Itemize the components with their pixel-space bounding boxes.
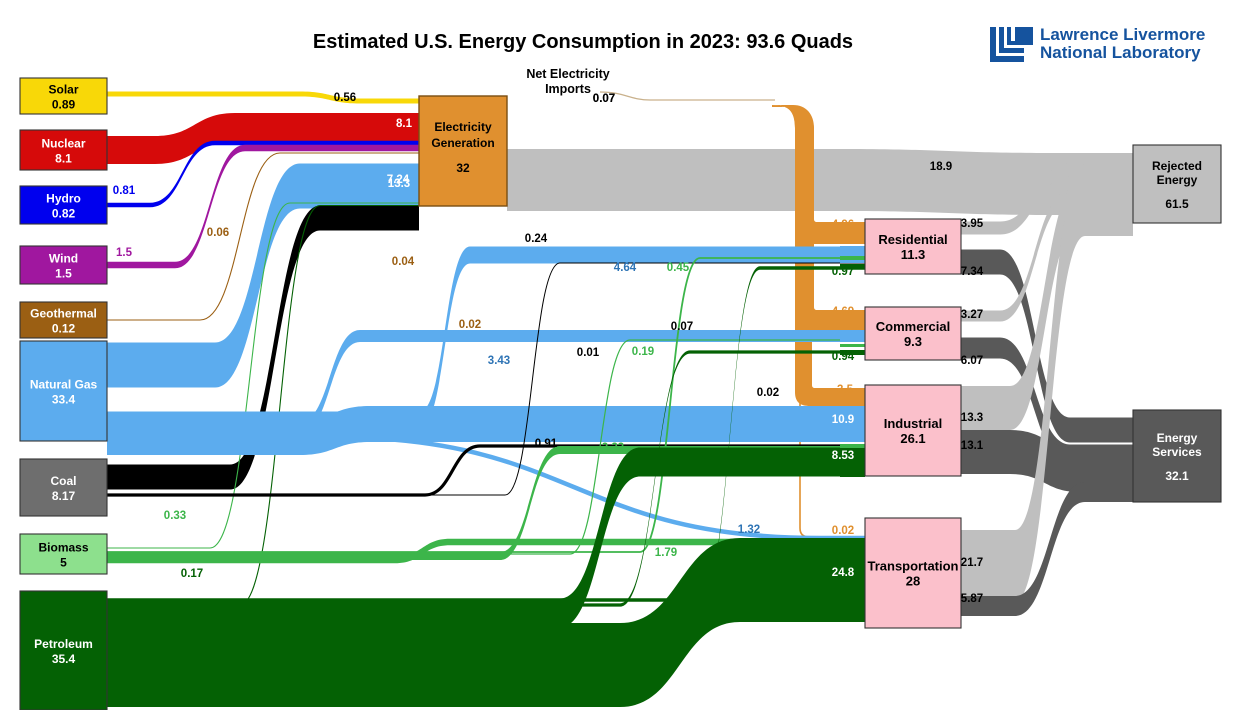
sector-industrial-label: Industrial [884, 416, 943, 431]
flow-label-wind-elecgen: 1.5 [116, 247, 133, 259]
hub-elecgen-label: Generation [431, 136, 494, 150]
source-nuclear-label: 8.1 [55, 152, 72, 166]
sink-services-label: Services [1152, 445, 1202, 459]
net-imports-label-line1: Net Electricity [526, 67, 609, 81]
source-petroleum-label: 35.4 [52, 652, 76, 666]
flow-label-geothermal-residential: 0.04 [392, 256, 415, 268]
flow-label-residential-rejected: 3.95 [961, 218, 984, 230]
source-natgas-label: Natural Gas [30, 378, 98, 392]
flow-label-elecgen-commercial: 4.69 [832, 306, 854, 318]
flow-biomass-residential [107, 258, 865, 552]
source-biomass-label: 5 [60, 556, 67, 570]
flow-label-petroleum-industrial: 8.53 [832, 450, 854, 462]
source-petroleum-label: Petroleum [34, 637, 93, 651]
flow-label-biomass-elecgen: 0.33 [164, 510, 186, 522]
flow-label-elecgen-industrial: 3.5 [837, 384, 854, 396]
sector-residential-label: 11.3 [901, 247, 926, 262]
sector-commercial-label: 9.3 [904, 334, 922, 349]
llnl-logo-line2: National Laboratory [1040, 43, 1201, 62]
llnl-logo-mark [990, 27, 1033, 62]
flow-label-biomass-commercial: 0.19 [632, 346, 654, 358]
flow-label-elecgen-rejected: 18.9 [930, 161, 952, 173]
flow-label-solar-commercial: 0.07 [671, 321, 693, 333]
source-solar-label: 0.89 [52, 98, 76, 112]
flow-label-coal-elecgen: 7.24 [387, 174, 410, 186]
source-coal-label: 8.17 [52, 489, 76, 503]
flow-label-elecgen-residential: 4.96 [832, 219, 854, 231]
source-geothermal-label: 0.12 [52, 322, 76, 336]
sector-input-band-residential-biomass [840, 256, 865, 260]
flow-label-biomass-residential: 0.45 [667, 262, 690, 274]
flow-label-commercial-rejected: 3.27 [961, 309, 983, 321]
sink-services-label: Energy [1157, 431, 1198, 445]
flow-label-petroleum-commercial: 0.94 [832, 351, 855, 363]
flow-label-geothermal-elecgen: 0.06 [207, 227, 229, 239]
flow-label-elecgen-transportation: 0.02 [832, 525, 854, 537]
flow-label-transportation-rejected: 21.7 [961, 557, 983, 569]
flow-label-solar-residential: 0.24 [525, 233, 548, 245]
sector-commercial-label: Commercial [876, 319, 950, 334]
source-biomass-label: Biomass [38, 541, 88, 555]
flow-label-natgas-transportation: 1.32 [738, 524, 760, 536]
flow-label-nuclear-elecgen: 8.1 [396, 118, 413, 130]
sector-industrial-label: 26.1 [900, 431, 925, 446]
sink-services-label: 32.1 [1165, 469, 1189, 483]
source-hydro-label: Hydro [46, 192, 81, 206]
source-wind-label: 1.5 [55, 267, 72, 281]
sankey-canvas: Solar0.89Nuclear8.1Hydro0.82Wind1.5Geoth… [0, 0, 1247, 710]
flow-label-solar-industrial: 0.02 [757, 387, 779, 399]
flow-label-coal-industrial: 0.91 [535, 438, 558, 450]
flow-label-hydro-elecgen: 0.81 [113, 185, 136, 197]
llnl-logo-line1: Lawrence Livermore [1040, 25, 1205, 44]
page-title: Estimated U.S. Energy Consumption in 202… [313, 31, 853, 53]
llnl-logo: Lawrence Livermore National Laboratory [990, 25, 1205, 62]
flow-elecgen-rejected [507, 149, 1133, 215]
hub-elecgen-label: 32 [456, 161, 470, 175]
flow-label-natgas-commercial: 3.43 [488, 355, 510, 367]
source-natgas-label: 33.4 [52, 393, 76, 407]
flow-layer [107, 92, 1133, 708]
hub-elecgen-label: Electricity [434, 120, 492, 134]
sink-rejected-label: 61.5 [1165, 197, 1189, 211]
sector-transportation-label: Transportation [867, 559, 958, 574]
flow-solar-elecgen [107, 92, 419, 104]
flow-label-natgas-industrial: 10.9 [832, 414, 854, 426]
net-imports-label-line2: Imports [545, 82, 591, 96]
flow-label-petroleum-transportation: 24.8 [832, 567, 855, 579]
source-wind-label: Wind [49, 252, 78, 266]
flow-label-biomass-transportation: 1.79 [655, 547, 677, 559]
hub-elecgen-box[interactable] [419, 96, 507, 206]
sankey-diagram: Solar0.89Nuclear8.1Hydro0.82Wind1.5Geoth… [0, 0, 1247, 710]
source-nuclear-label: Nuclear [41, 137, 85, 151]
sink-rejected-label: Rejected [1152, 159, 1202, 173]
source-coal-label: Coal [50, 474, 76, 488]
flow-label-transportation-services: 5.87 [961, 593, 983, 605]
flow-label-residential-services: 7.34 [961, 266, 984, 278]
sector-residential-label: Residential [878, 232, 947, 247]
flow-label-natgas-residential: 4.64 [614, 262, 637, 274]
flow-label-industrial-rejected: 13.3 [961, 412, 983, 424]
flow-label-petroleum-residential: 0.97 [832, 266, 854, 278]
sector-input-band-commercial-natgas [840, 330, 865, 342]
source-geothermal-label: Geothermal [30, 307, 97, 321]
sink-rejected-label: Energy [1157, 173, 1198, 187]
flow-label-biomass-industrial: 2.23 [602, 442, 624, 454]
flow-label-industrial-services: 13.1 [961, 440, 984, 452]
net-imports-value: 0.07 [593, 93, 615, 105]
sector-input-band-transportation-petroleum [840, 538, 865, 622]
source-hydro-label: 0.82 [52, 207, 76, 221]
flow-imports-elecgen [600, 92, 775, 100]
flow-label-geothermal-commercial: 0.02 [459, 319, 481, 331]
flow-label-petroleum-elecgen: 0.17 [181, 568, 203, 580]
sector-input-band-commercial-biomass [840, 344, 865, 347]
source-solar-label: Solar [48, 83, 78, 97]
sector-input-band-residential-natgas [840, 246, 865, 263]
flow-label-coal-residential: 0.01 [577, 347, 600, 359]
flow-label-commercial-services: 6.07 [961, 355, 983, 367]
flow-label-solar-elecgen: 0.56 [334, 92, 356, 104]
sector-transportation-label: 28 [906, 574, 920, 589]
flow-nuclear-elecgen [107, 113, 419, 164]
